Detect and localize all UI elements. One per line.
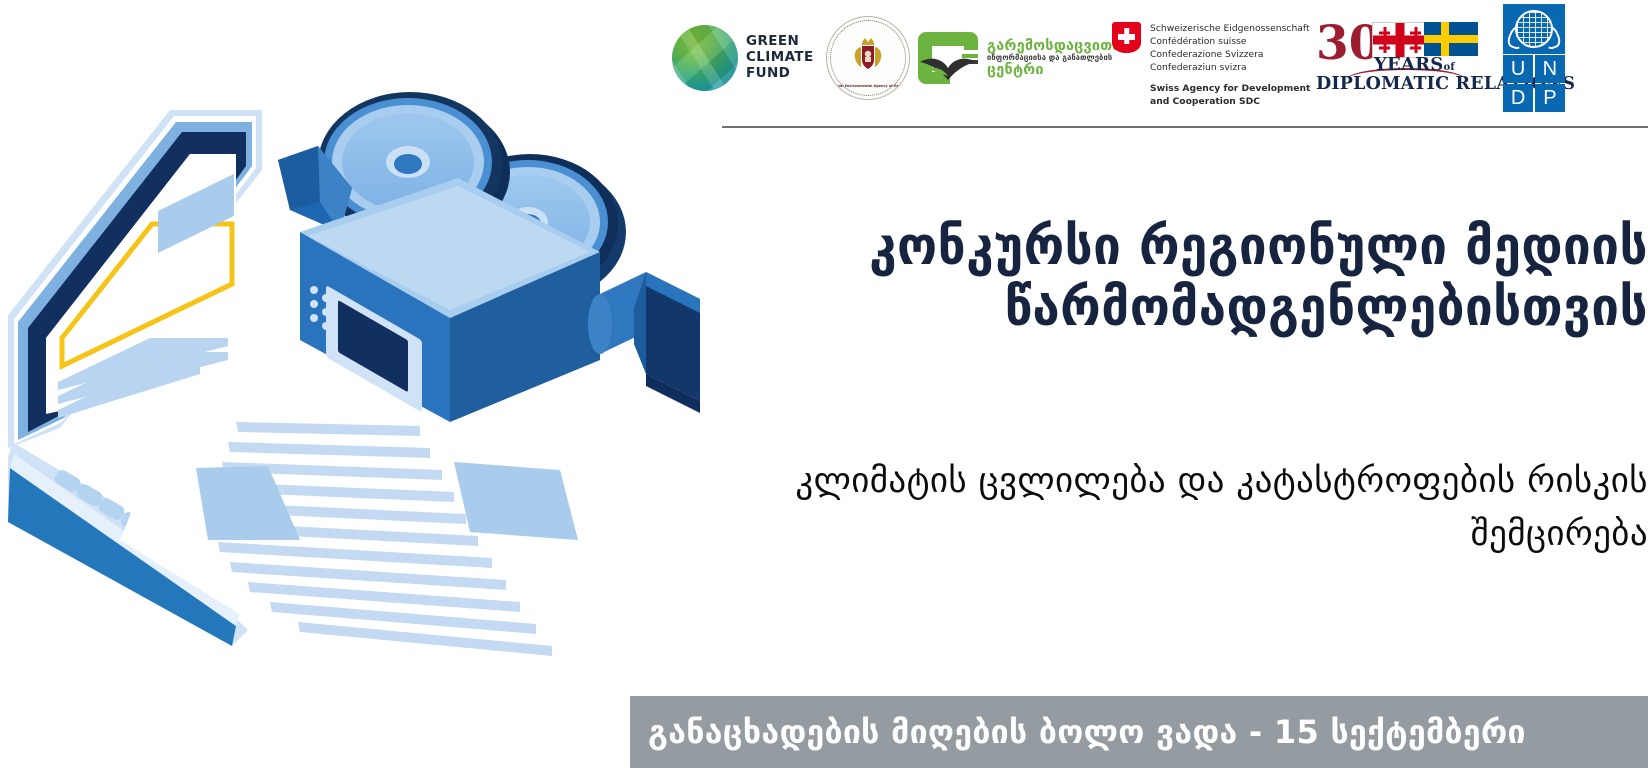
years-word: YEARS: [1374, 54, 1444, 75]
poster-root: GREEN CLIMATE FUND: [0, 0, 1648, 768]
swiss-line-rm: Confederaziun svizra: [1150, 61, 1310, 74]
of-word: of: [1444, 62, 1455, 73]
swiss-cross-icon: [1112, 22, 1141, 53]
logo-undp: U N D P: [1488, 4, 1580, 113]
sdc-line-1: Swiss Agency for Development: [1150, 83, 1310, 96]
agency-seal-icon: National Environmental Agency of Georgia: [826, 16, 910, 100]
seal-caption: National Environmental Agency of Georgia: [827, 84, 909, 88]
green-climate-fund-sphere-icon: [672, 25, 738, 91]
gcf-line-3: FUND: [746, 66, 814, 82]
eiec-line-1: გარემოსდაცვითი: [987, 38, 1121, 54]
undp-letter-u: U: [1503, 55, 1533, 83]
logo-national-environmental-agency: National Environmental Agency of Georgia: [820, 16, 916, 100]
undp-letters: U N D P: [1503, 55, 1565, 113]
logo-environmental-information-education-centre: გარემოსდაცვითი ინფორმაციისა და განათლები…: [916, 28, 1112, 88]
undp-letter-d: D: [1503, 84, 1533, 112]
georgia-coat-of-arms-icon: [848, 35, 888, 81]
swiss-line-fr: Confédération suisse: [1150, 35, 1310, 48]
illustration-laptop-camera: [0, 70, 700, 670]
green-climate-fund-wordmark: GREEN CLIMATE FUND: [746, 34, 814, 82]
un-emblem-icon: [1503, 4, 1565, 55]
page-title: კონკურსი რეგიონული მედიის წარმომადგენლებ…: [740, 216, 1648, 339]
eiec-line-3: ცენტრი: [987, 62, 1121, 78]
logo-swiss-confederation-sdc: Schweizerische Eidgenossenschaft Confédé…: [1112, 8, 1316, 109]
swiss-wordmark: Schweizerische Eidgenossenschaft Confédé…: [1150, 22, 1310, 109]
undp-letter-n: N: [1535, 55, 1565, 83]
eiec-wordmark: გარემოსდაცვითი ინფორმაციისა და განათლები…: [987, 38, 1121, 79]
sdc-line-2: and Cooperation SDC: [1150, 96, 1310, 109]
undp-letter-p: P: [1535, 84, 1565, 112]
gcf-line-1: GREEN: [746, 34, 814, 50]
page-subtitle: კლიმატის ცვლილება და კატასტროფების რისკი…: [672, 455, 1648, 561]
deadline-bar: განაცხადების მიღების ბოლო ვადა - 15 სექტ…: [630, 696, 1648, 768]
undp-mark: U N D P: [1503, 4, 1565, 113]
georgia-flag-icon: [1372, 22, 1428, 58]
diplomatic-flags: [1372, 22, 1484, 58]
eiec-leaf-book-icon: [916, 28, 982, 88]
logo-green-climate-fund: GREEN CLIMATE FUND: [672, 25, 820, 91]
diplomatic-years-label: YEARSof: [1374, 54, 1455, 75]
logo-strip: GREEN CLIMATE FUND: [672, 8, 1648, 108]
eiec-line-2: ინფორმაციისა და განათლების: [987, 54, 1121, 63]
header-divider: [722, 126, 1648, 128]
gcf-line-2: CLIMATE: [746, 50, 814, 66]
deadline-text: განაცხადების მიღების ბოლო ვადა - 15 სექტ…: [630, 713, 1526, 751]
sweden-flag-icon: [1424, 22, 1478, 56]
swiss-line-it: Confederazione Svizzera: [1150, 48, 1310, 61]
swiss-line-de: Schweizerische Eidgenossenschaft: [1150, 22, 1310, 35]
logo-30-years-diplomatic-relations: 30 YEARSof DIPLOMATIC RELATIONS: [1316, 16, 1488, 100]
film-camera-illustration: [278, 92, 700, 428]
